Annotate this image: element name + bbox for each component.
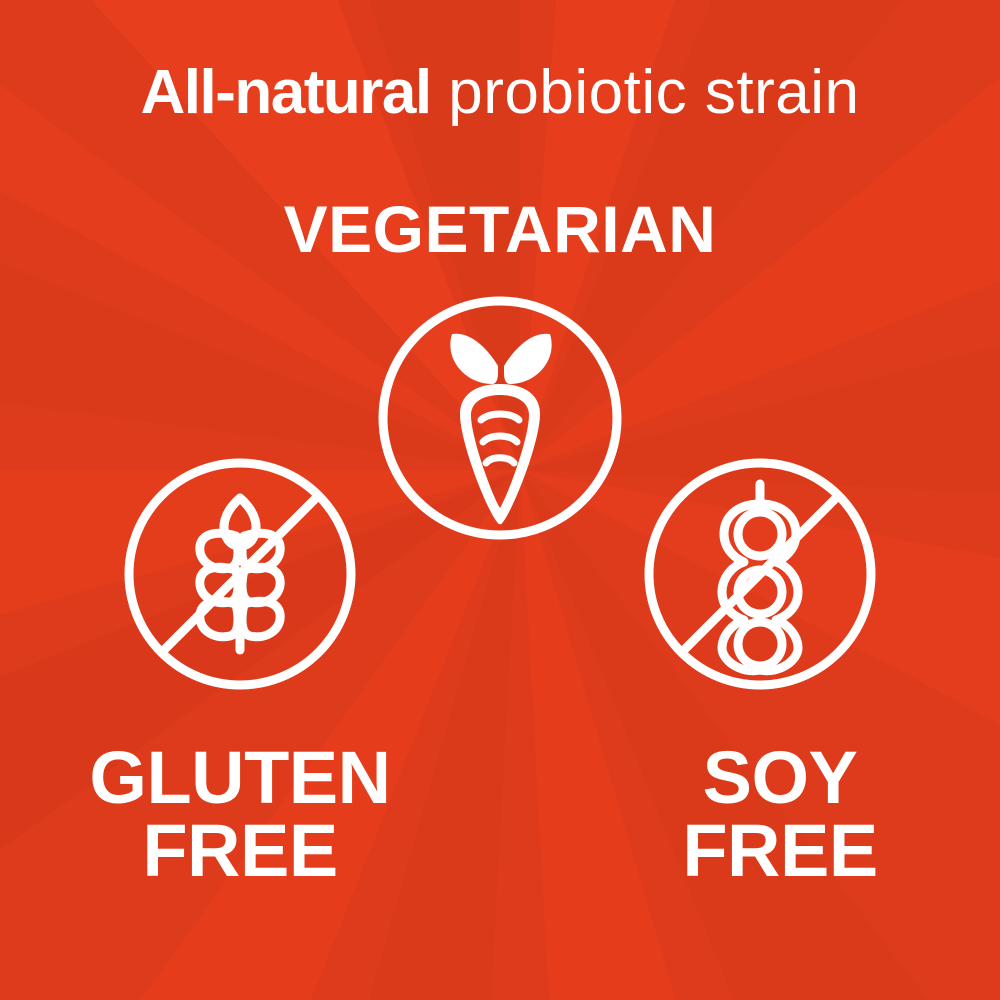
badge-soy-free — [640, 454, 880, 694]
soy-pod-outline — [722, 504, 798, 671]
gluten-free-badge-graphic — [120, 454, 360, 694]
product-claims-poster: All-natural probiotic strain VEGETARIAN — [0, 0, 1000, 1000]
prohibition-slash — [682, 496, 838, 652]
soy-bean-3 — [738, 622, 782, 666]
headline: All-natural probiotic strain — [0, 62, 1000, 124]
soy-free-badge-graphic — [640, 454, 880, 694]
label-gluten-free: GLUTEN FREE — [40, 742, 440, 887]
soy-bean-1 — [738, 512, 782, 556]
carrot-body — [460, 384, 540, 524]
headline-light: probiotic strain — [431, 58, 860, 127]
badge-ring — [383, 301, 617, 535]
carrot-ridge-1 — [481, 414, 519, 420]
badge-gluten-free — [120, 454, 360, 694]
carrot-leaf-right — [504, 334, 552, 384]
carrot-leaf-left — [450, 334, 498, 384]
carrot-ridge-2 — [483, 436, 517, 442]
headline-strong: All-natural — [140, 58, 430, 127]
carrot-icon — [450, 334, 551, 525]
carrot-ridge-3 — [486, 458, 514, 463]
vegetarian-badge-graphic — [374, 292, 626, 544]
label-soy-free: SOY FREE — [600, 742, 960, 887]
badge-vegetarian — [374, 292, 626, 544]
vegetarian-title: VEGETARIAN — [0, 196, 1000, 262]
